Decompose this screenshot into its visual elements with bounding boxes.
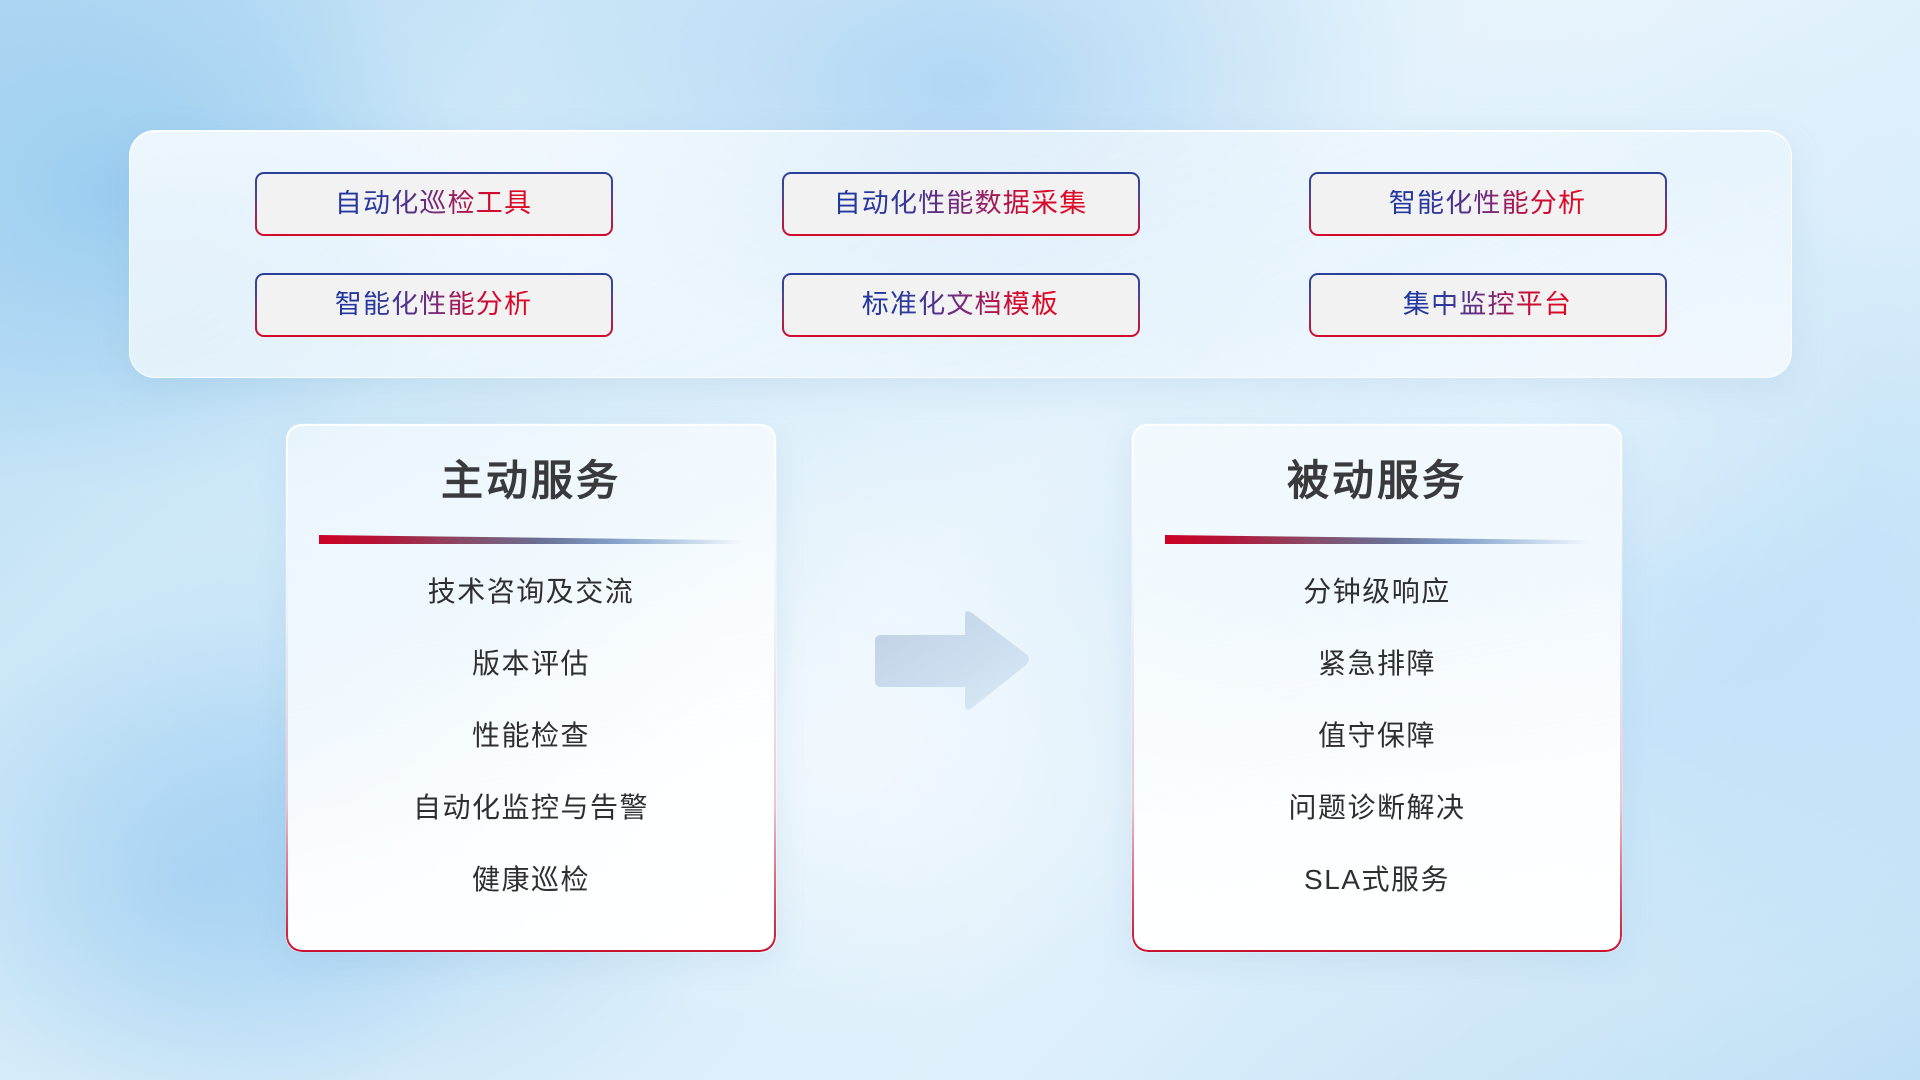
- capability-chip-intelligent-performance-analysis-1[interactable]: 智能化性能分析: [1309, 172, 1667, 236]
- capability-chip-intelligent-performance-analysis-2[interactable]: 智能化性能分析: [255, 273, 613, 337]
- capability-chip-label: 集中监控平台: [1403, 291, 1572, 318]
- service-card-passive-divider: [1165, 535, 1589, 544]
- capability-chip-automated-inspection-tool[interactable]: 自动化巡检工具: [255, 172, 613, 236]
- service-card-active: 主动服务 技术咨询及交流 版本评估 性能检查 自动化监控与告警 健康巡检: [285, 423, 777, 953]
- service-card-active-divider: [319, 535, 743, 544]
- list-item: 健康巡检: [286, 866, 776, 894]
- list-item: 值守保障: [1132, 722, 1622, 750]
- list-item: SLA式服务: [1132, 866, 1622, 894]
- service-card-passive: 被动服务 分钟级响应 紧急排障 值守保障 问题诊断解决 SLA式服务: [1131, 423, 1623, 953]
- list-item: 问题诊断解决: [1132, 794, 1622, 822]
- service-card-active-list: 技术咨询及交流 版本评估 性能检查 自动化监控与告警 健康巡检: [286, 578, 776, 894]
- list-item: 版本评估: [286, 650, 776, 678]
- divider-wedge-shape: [319, 535, 743, 544]
- list-item: 性能检查: [286, 722, 776, 750]
- capability-chip-label: 自动化性能数据采集: [834, 190, 1088, 217]
- capability-chip-grid: 自动化巡检工具 自动化性能数据采集 智能化性能分析 智能化性能分析 标准化文档模…: [130, 171, 1791, 338]
- list-item: 紧急排障: [1132, 650, 1622, 678]
- service-card-passive-list: 分钟级响应 紧急排障 值守保障 问题诊断解决 SLA式服务: [1132, 578, 1622, 894]
- list-item: 自动化监控与告警: [286, 794, 776, 822]
- list-item: 分钟级响应: [1132, 578, 1622, 606]
- service-card-active-title: 主动服务: [286, 460, 776, 502]
- arrow-right-icon: [869, 607, 1033, 715]
- capability-chip-label: 智能化性能分析: [335, 291, 532, 318]
- service-card-passive-title: 被动服务: [1132, 460, 1622, 502]
- slide-canvas: 自动化巡检工具 自动化性能数据采集 智能化性能分析 智能化性能分析 标准化文档模…: [0, 0, 1920, 1080]
- capabilities-panel: 自动化巡检工具 自动化性能数据采集 智能化性能分析 智能化性能分析 标准化文档模…: [129, 130, 1792, 378]
- list-item: 技术咨询及交流: [286, 578, 776, 606]
- capability-chip-label: 标准化文档模板: [862, 291, 1059, 318]
- capability-chip-label: 智能化性能分析: [1389, 190, 1586, 217]
- capability-chip-automated-performance-data-collection[interactable]: 自动化性能数据采集: [782, 172, 1140, 236]
- divider-wedge-shape: [1165, 535, 1589, 544]
- capability-chip-label: 自动化巡检工具: [335, 190, 532, 217]
- capability-chip-standardized-document-template[interactable]: 标准化文档模板: [782, 273, 1140, 337]
- capability-chip-centralized-monitoring-platform[interactable]: 集中监控平台: [1309, 273, 1667, 337]
